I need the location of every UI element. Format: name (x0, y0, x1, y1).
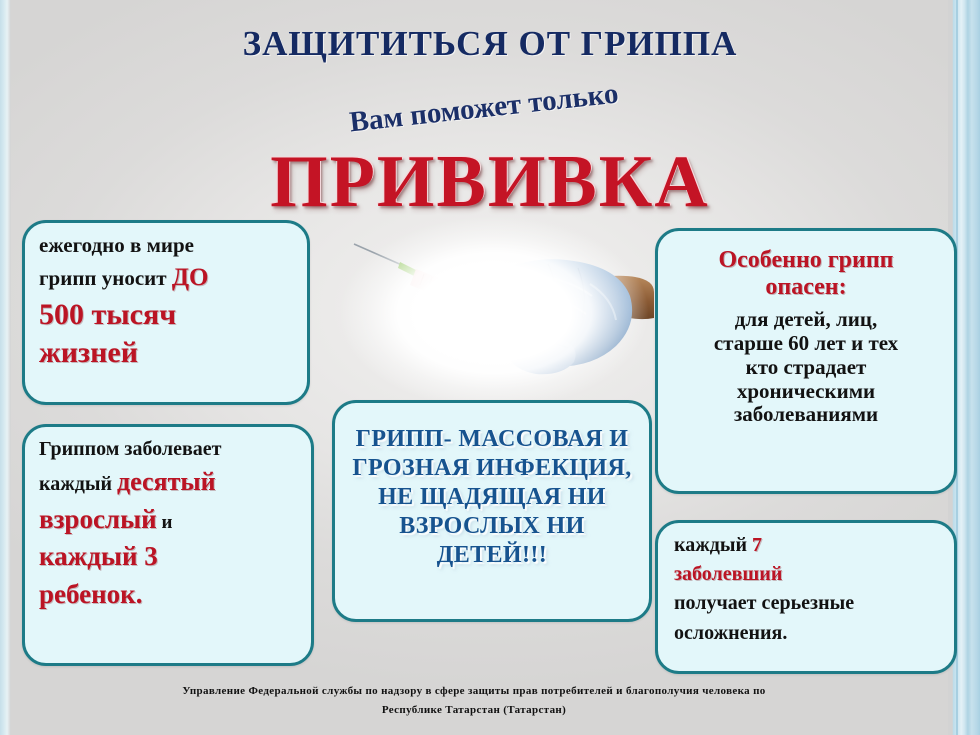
poster-canvas: ЗАЩИТИТЬСЯ ОТ ГРИППА Вам поможет только … (0, 0, 980, 735)
fact-box-incidence: Гриппом заболевает каждый десятый взросл… (22, 424, 314, 666)
fact-box-risk-groups: Особенно грипп опасен: для детей, лиц, с… (655, 228, 957, 494)
box1-line2-black: грипп уносит (39, 266, 172, 290)
footer-line1: Управление Федеральной службы по надзору… (24, 682, 924, 701)
box1-line4: жизней (39, 336, 138, 369)
box4-head2: опасен: (668, 274, 944, 301)
box2-line3-black: и (157, 512, 173, 533)
footer-attribution: Управление Федеральной службы по надзору… (24, 682, 924, 721)
syringe-photo (334, 214, 654, 410)
fact-box-deaths: ежегодно в мире грипп уносит ДО 500 тыся… (22, 220, 310, 405)
box3-line3: НЕ ЩАДЯЩАЯ НИ (345, 483, 639, 512)
box2-line4: каждый 3 (39, 541, 158, 571)
poster-title: ЗАЩИТИТЬСЯ ОТ ГРИППА (0, 24, 980, 64)
box5-line2: заболевший (674, 563, 782, 585)
box1-line1: ежегодно в мире (39, 233, 194, 257)
box3-line1: ГРИПП- МАССОВАЯ И (345, 425, 639, 454)
box2-line3-red: взрослый (39, 504, 157, 534)
box1-line3: 500 тысяч (39, 298, 176, 331)
poster-subtitle: Вам поможет только (283, 70, 684, 146)
box4-line4: хроническими (668, 380, 944, 404)
left-edge-band (0, 0, 11, 735)
box5-line1-red: 7 (752, 534, 762, 556)
box4-line1: для детей, лиц, (668, 308, 944, 332)
box4-line5: заболеваниями (668, 403, 944, 427)
box1-line2-red: ДО (172, 264, 209, 291)
fact-box-mass-infection: ГРИПП- МАССОВАЯ И ГРОЗНАЯ ИНФЕКЦИЯ, НЕ Щ… (332, 400, 652, 622)
box2-line2-black: каждый (39, 473, 117, 495)
footer-line2: Республике Татарстан (Татарстан) (24, 701, 924, 720)
box4-head1: Особенно грипп (668, 247, 944, 274)
box2-line2-red: десятый (117, 467, 216, 496)
poster-keyword: ПРИВИВКА (0, 140, 980, 225)
box3-line5: ДЕТЕЙ!!! (345, 541, 639, 570)
box5-line1-black: каждый (674, 534, 752, 556)
box3-line4: ВЗРОСЛЫХ НИ (345, 512, 639, 541)
photo-vignette (334, 214, 654, 410)
box3-line2: ГРОЗНАЯ ИНФЕКЦИЯ, (345, 454, 639, 483)
box4-line2: старше 60 лет и тех (668, 332, 944, 356)
box2-line5: ребенок. (39, 579, 143, 609)
box5-line3: получает серьезные (674, 592, 854, 614)
box2-line1: Гриппом заболевает (39, 438, 222, 460)
box5-line4: осложнения. (674, 622, 787, 644)
fact-box-complications: каждый 7 заболевший получает серьезные о… (655, 520, 957, 674)
box4-line3: кто страдает (668, 356, 944, 380)
